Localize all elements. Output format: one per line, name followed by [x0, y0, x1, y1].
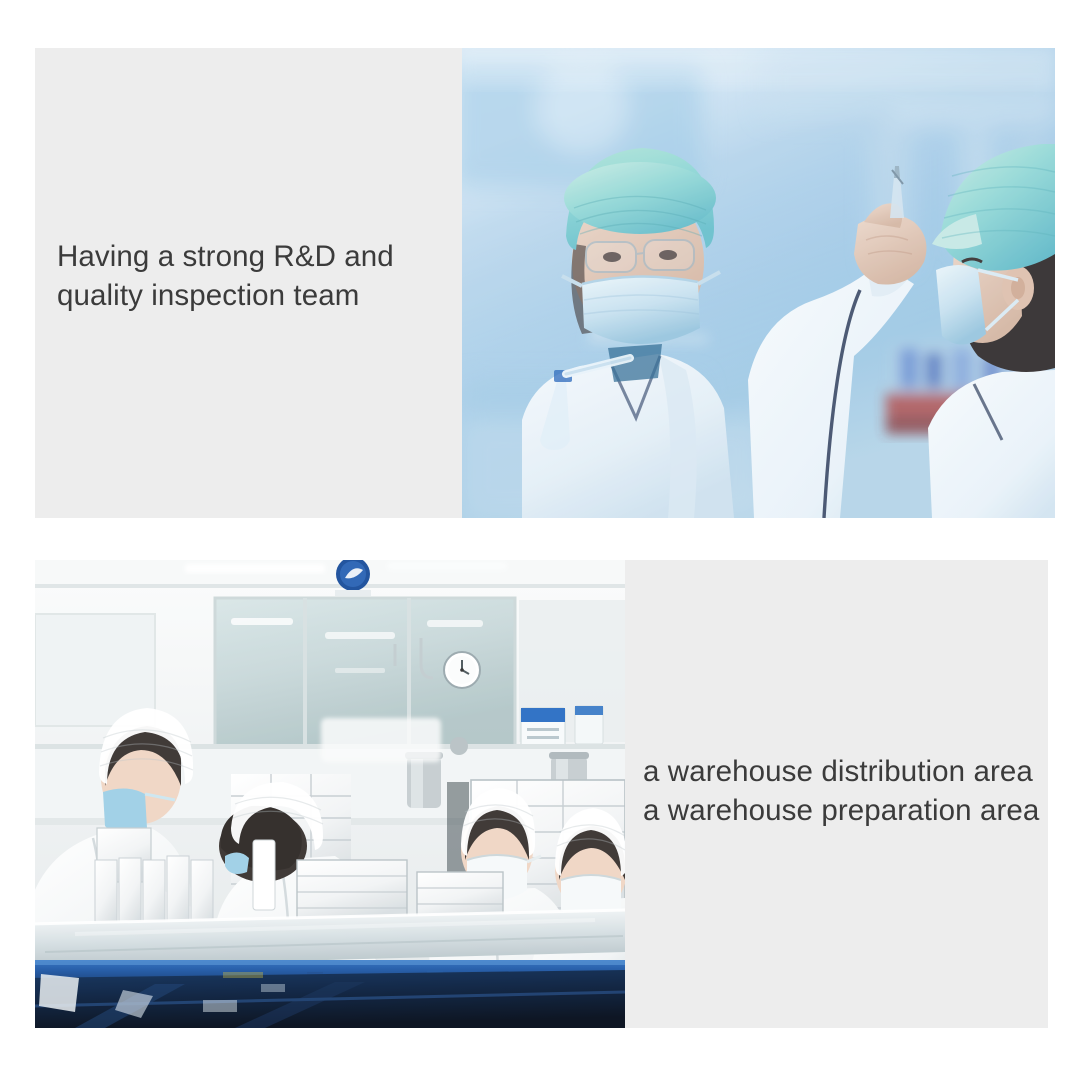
bottom-caption-text: a warehouse distribution area a warehous… — [643, 753, 1053, 830]
bottom-caption-panel: a warehouse distribution area a warehous… — [625, 560, 1048, 1028]
warehouse-packing-area-photo — [35, 560, 625, 1028]
top-caption-text: Having a strong R&D and quality inspecti… — [57, 238, 457, 315]
lab-rd-quality-inspection-photo — [462, 48, 1055, 518]
top-section: Having a strong R&D and quality inspecti… — [35, 48, 1055, 518]
bottom-section: a warehouse distribution area a warehous… — [35, 560, 1048, 1028]
top-caption-panel: Having a strong R&D and quality inspecti… — [35, 48, 462, 518]
